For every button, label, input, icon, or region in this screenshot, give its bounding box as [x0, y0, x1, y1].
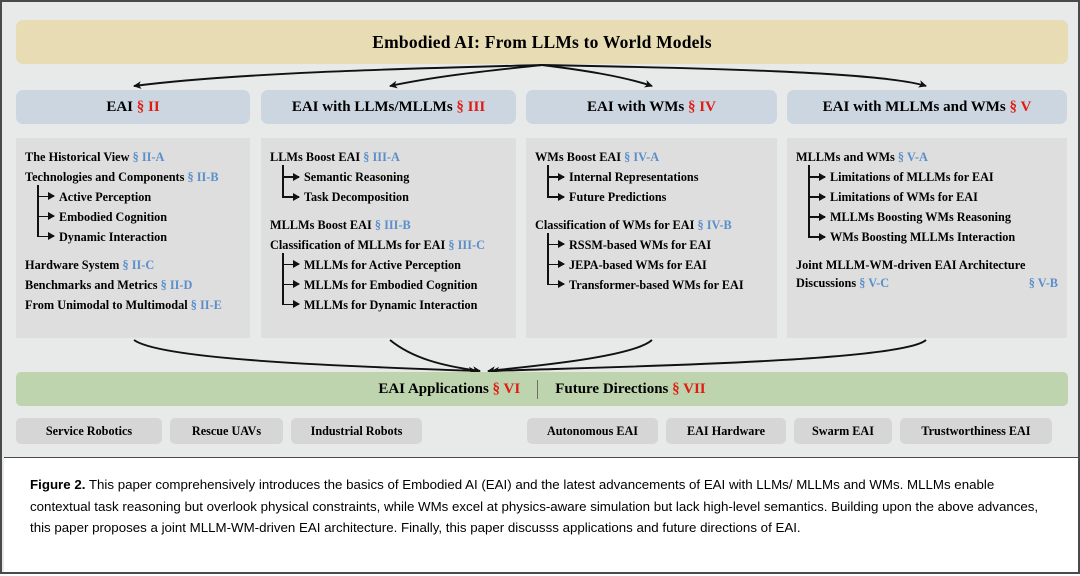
column-header-eai-llms-mllms[interactable]: EAI with LLMs/MLLMs § III — [261, 90, 516, 124]
section-entry-ref: § IV-B — [694, 218, 731, 232]
section-entry-label: MLLMs Boost EAI — [270, 218, 372, 232]
sub-branch-item[interactable]: WMs Boosting MLLMs Interaction — [796, 229, 1058, 247]
section-entry[interactable]: Classification of WMs for EAI § IV-B — [535, 216, 768, 236]
spacer — [25, 249, 241, 256]
section-entry-ref: § III-A — [360, 150, 400, 164]
pill-label: Rescue UAVs — [192, 424, 261, 439]
sub-branch-label: Limitations of MLLMs for EAI — [830, 169, 994, 186]
pill-label: Swarm EAI — [812, 424, 874, 439]
sub-branch-item[interactable]: Semantic Reasoning — [270, 169, 507, 187]
sub-branch-item[interactable]: Internal Representations — [535, 169, 768, 187]
sub-branch-label: Task Decomposition — [304, 189, 409, 206]
column-body-eai-mllms-wms: MLLMs and WMs § V-ALimitations of MLLMs … — [787, 138, 1067, 338]
section-entry-label: Hardware System — [25, 258, 119, 272]
branch-arrow-icon — [282, 264, 299, 266]
column-header-ref: § IV — [688, 99, 716, 116]
figure-title-text: Embodied AI: From LLMs to World Models — [372, 32, 711, 53]
section-entry-ref: § II-B — [184, 170, 218, 184]
sub-branch-label: Dynamic Interaction — [59, 229, 167, 246]
pill-service-robotics[interactable]: Service Robotics — [16, 418, 162, 444]
branch-arrow-icon — [547, 244, 564, 246]
sub-branch-group: Semantic ReasoningTask Decomposition — [270, 169, 507, 207]
column-header-eai-wms[interactable]: EAI with WMs § IV — [526, 90, 777, 124]
pill-eai-hardware[interactable]: EAI Hardware — [666, 418, 786, 444]
top-fanout-arrows — [134, 65, 926, 86]
sub-branch-label: JEPA-based WMs for EAI — [569, 257, 707, 274]
sub-branch-label: Semantic Reasoning — [304, 169, 409, 186]
branch-arrow-icon — [547, 264, 564, 266]
section-entry[interactable]: MLLMs and WMs § V-A — [796, 148, 1058, 168]
sub-branch-item[interactable]: Active Perception — [25, 189, 241, 207]
sub-branch-item[interactable]: MLLMs for Embodied Cognition — [270, 277, 507, 295]
section-entry-label: Discussions — [796, 276, 856, 290]
section-entry-ref: § II-C — [119, 258, 154, 272]
sub-branch-item[interactable]: MLLMs Boosting WMs Reasoning — [796, 209, 1058, 227]
sub-branch-item[interactable]: Limitations of WMs for EAI — [796, 189, 1058, 207]
sub-branch-item[interactable]: Limitations of MLLMs for EAI — [796, 169, 1058, 187]
sub-branch-item[interactable]: Task Decomposition — [270, 189, 507, 207]
branch-arrow-icon — [808, 196, 825, 198]
column-header-label: EAI — [106, 99, 133, 116]
section-entry-ref: § IV-A — [621, 150, 659, 164]
column-header-label: EAI with LLMs/MLLMs — [292, 99, 453, 116]
column-header-label: EAI with MLLMs and WMs — [823, 99, 1006, 116]
section-entry-ref: § II-E — [188, 298, 222, 312]
pill-industrial-robots[interactable]: Industrial Robots — [291, 418, 422, 444]
branch-arrow-icon — [37, 236, 54, 238]
branch-arrow-icon — [37, 196, 54, 198]
column-header-ref: § V — [1010, 99, 1032, 116]
sub-branch-label: RSSM-based WMs for EAI — [569, 237, 711, 254]
sub-branch-item[interactable]: Future Predictions — [535, 189, 768, 207]
sub-branch-label: Transformer-based WMs for EAI — [569, 277, 744, 294]
section-entry-label: Technologies and Components — [25, 170, 184, 184]
section-entry[interactable]: Hardware System § II-C — [25, 256, 241, 276]
applications-future-bar: EAI Applications § VI Future Directions … — [16, 372, 1068, 406]
section-entry-label: WMs Boost EAI — [535, 150, 621, 164]
pill-label: EAI Hardware — [687, 424, 765, 439]
sub-branch-label: Internal Representations — [569, 169, 698, 186]
section-entry[interactable]: Discussions § V-C — [796, 274, 1058, 294]
sub-branch-item[interactable]: MLLMs for Active Perception — [270, 257, 507, 275]
section-entry[interactable]: Joint MLLM-WM-driven EAI Architecture§ V… — [796, 256, 1058, 276]
branch-arrow-icon — [282, 284, 299, 286]
sub-branch-group: Internal RepresentationsFuture Predictio… — [535, 169, 768, 207]
future-directions-ref: § VII — [672, 381, 706, 398]
sub-branch-label: Active Perception — [59, 189, 151, 206]
section-entry[interactable]: From Unimodal to Multimodal § II-E — [25, 296, 241, 316]
eai-applications-ref: § VI — [493, 381, 521, 398]
section-entry-ref: § III-C — [445, 238, 485, 252]
section-entry-label: Joint MLLM-WM-driven EAI Architecture — [796, 258, 1025, 272]
section-entry[interactable]: MLLMs Boost EAI § III-B — [270, 216, 507, 236]
sub-branch-label: Limitations of WMs for EAI — [830, 189, 978, 206]
section-entry-ref: § V-B — [1029, 274, 1058, 294]
sub-branch-item[interactable]: Dynamic Interaction — [25, 229, 241, 247]
pill-rescue-uavs[interactable]: Rescue UAVs — [170, 418, 283, 444]
sub-branch-item[interactable]: Transformer-based WMs for EAI — [535, 277, 768, 295]
sub-branch-label: WMs Boosting MLLMs Interaction — [830, 229, 1015, 246]
figure-caption: Figure 2. This paper comprehensively int… — [30, 474, 1052, 539]
figure-title-banner: Embodied AI: From LLMs to World Models — [16, 20, 1068, 64]
branch-arrow-icon — [282, 304, 299, 306]
section-entry[interactable]: The Historical View § II-A — [25, 148, 241, 168]
sub-branch-item[interactable]: MLLMs for Dynamic Interaction — [270, 297, 507, 315]
spacer — [535, 209, 768, 216]
future-directions-label: Future Directions — [555, 381, 668, 398]
section-entry-ref: § V-C — [856, 276, 889, 290]
section-entry[interactable]: WMs Boost EAI § IV-A — [535, 148, 768, 168]
pill-swarm-eai[interactable]: Swarm EAI — [794, 418, 892, 444]
sub-branch-group: MLLMs for Active PerceptionMLLMs for Emb… — [270, 257, 507, 315]
section-entry-ref: § V-A — [895, 150, 928, 164]
sub-branch-label: MLLMs for Embodied Cognition — [304, 277, 477, 294]
branch-arrow-icon — [547, 284, 564, 286]
section-entry-ref: § II-D — [158, 278, 193, 292]
sub-branch-item[interactable]: Embodied Cognition — [25, 209, 241, 227]
column-header-ref: § II — [137, 99, 160, 116]
section-entry-label: Classification of MLLMs for EAI — [270, 238, 445, 252]
section-entry[interactable]: Classification of MLLMs for EAI § III-C — [270, 236, 507, 256]
sub-branch-group: Limitations of MLLMs for EAILimitations … — [796, 169, 1058, 247]
sub-branch-group: RSSM-based WMs for EAIJEPA-based WMs for… — [535, 237, 768, 295]
sub-branch-label: Embodied Cognition — [59, 209, 167, 226]
column-body-eai-wms: WMs Boost EAI § IV-AInternal Representat… — [526, 138, 777, 338]
column-header-label: EAI with WMs — [587, 99, 684, 116]
column-header-ref: § III — [456, 99, 485, 116]
caption-container: Figure 2. This paper comprehensively int… — [4, 457, 1078, 572]
branch-arrow-icon — [808, 176, 825, 178]
pill-label: Service Robotics — [46, 424, 132, 439]
pill-autonomous-eai[interactable]: Autonomous EAI — [527, 418, 658, 444]
column-body-eai: The Historical View § II-ATechnologies a… — [16, 138, 250, 338]
section-entry[interactable]: LLMs Boost EAI § III-A — [270, 148, 507, 168]
caption-text: This paper comprehensively introduces th… — [30, 477, 1038, 535]
branch-arrow-icon — [547, 196, 564, 198]
sub-branch-group: Active PerceptionEmbodied CognitionDynam… — [25, 189, 241, 247]
branch-arrow-icon — [547, 176, 564, 178]
pill-trustworthiness-eai[interactable]: Trustworthiness EAI — [900, 418, 1052, 444]
figure-container: Embodied AI: From LLMs to World Models E… — [0, 0, 1080, 574]
column-header-eai[interactable]: EAI § II — [16, 90, 250, 124]
sub-branch-label: Future Predictions — [569, 189, 666, 206]
column-header-eai-mllms-wms[interactable]: EAI with MLLMs and WMs § V — [787, 90, 1067, 124]
section-entry-label: The Historical View — [25, 150, 130, 164]
pill-label: Trustworthiness EAI — [921, 424, 1030, 439]
pill-label: Industrial Robots — [311, 424, 403, 439]
section-entry-label: Classification of WMs for EAI — [535, 218, 694, 232]
section-entry-label: LLMs Boost EAI — [270, 150, 360, 164]
sub-branch-item[interactable]: RSSM-based WMs for EAI — [535, 237, 768, 255]
branch-arrow-icon — [808, 236, 825, 238]
sub-branch-label: MLLMs for Dynamic Interaction — [304, 297, 477, 314]
section-entry-label: MLLMs and WMs — [796, 150, 895, 164]
spacer — [270, 209, 507, 216]
section-entry-label: Benchmarks and Metrics — [25, 278, 158, 292]
branch-arrow-icon — [282, 176, 299, 178]
bottom-fanin-arrows — [134, 340, 926, 371]
column-body-eai-llms-mllms: LLMs Boost EAI § III-ASemantic Reasoning… — [261, 138, 516, 338]
section-entry-ref: § II-A — [130, 150, 165, 164]
pill-label: Autonomous EAI — [547, 424, 638, 439]
sub-branch-item[interactable]: JEPA-based WMs for EAI — [535, 257, 768, 275]
sub-branch-label: MLLMs for Active Perception — [304, 257, 461, 274]
bar-divider — [537, 380, 538, 399]
section-entry-ref: § III-B — [372, 218, 411, 232]
section-entry-label: From Unimodal to Multimodal — [25, 298, 188, 312]
eai-applications-label: EAI Applications — [378, 381, 488, 398]
sub-branch-label: MLLMs Boosting WMs Reasoning — [830, 209, 1011, 226]
branch-arrow-icon — [808, 216, 825, 218]
caption-label: Figure 2. — [30, 477, 85, 492]
branch-arrow-icon — [37, 216, 54, 218]
section-entry[interactable]: Technologies and Components § II-B — [25, 168, 241, 188]
section-entry[interactable]: Benchmarks and Metrics § II-D — [25, 276, 241, 296]
spacer — [796, 249, 1058, 256]
branch-arrow-icon — [282, 196, 299, 198]
